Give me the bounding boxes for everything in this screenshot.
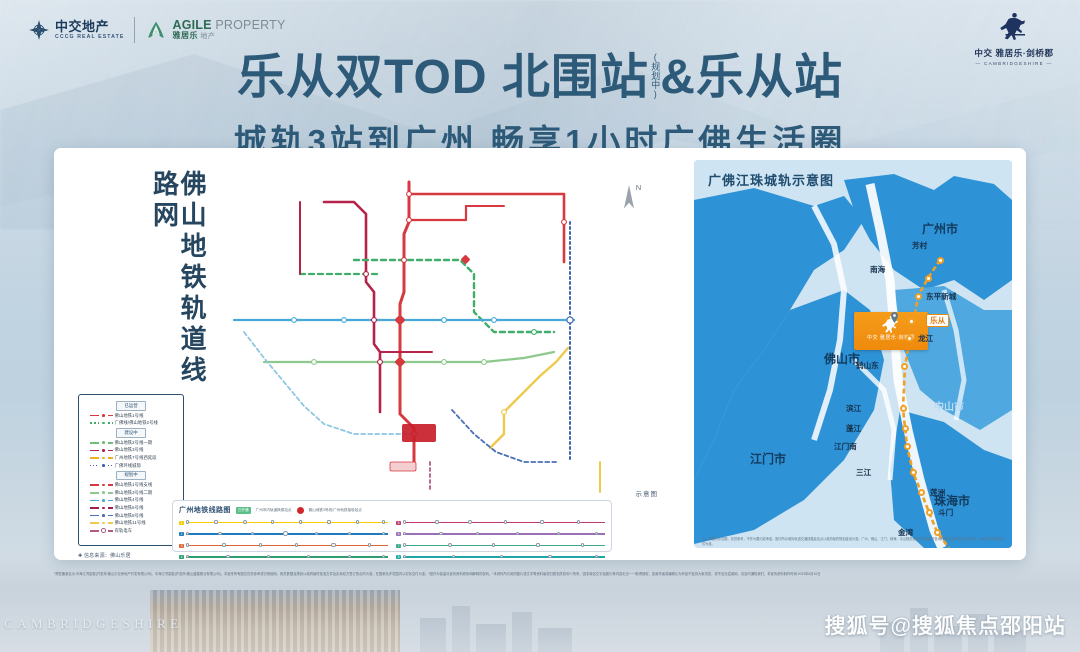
line-number: 4: [179, 555, 184, 559]
legend-line-swatch-tail: [108, 500, 113, 502]
legend-line-swatch-tail: [108, 415, 113, 417]
legend-item: 佛山地铁11号线: [90, 520, 180, 526]
guangzhou-line-row: 2: [179, 530, 388, 539]
source-note-prefix: 信息来源：: [84, 553, 110, 559]
legend-item: 佛山地铁3号线二期: [90, 490, 180, 496]
legend-line-swatch: [90, 484, 99, 486]
legend-item: 广佛环线城际: [90, 463, 180, 469]
station-label-dongpingxincheng: 东平新城: [926, 291, 956, 302]
station-label-sanjiang: 三江: [856, 467, 871, 478]
legend-line-swatch: [90, 515, 99, 517]
project-badge-label: 中交 雅居乐·剑桥郡: [854, 334, 928, 341]
station-label-longjiang: 龙江: [918, 333, 933, 344]
station-dot: [915, 293, 922, 300]
line3-badge-icon: [297, 507, 304, 514]
headline-primary: 乐从双TOD 北围站(规划中)&乐从站: [0, 52, 1080, 109]
guangzhou-panel-header: 广州地铁线路图 已开通 广州市内轨道换乘站点 佛山地铁3号线/广州地铁接驳站点: [179, 505, 605, 515]
guangzhou-line-row: 7: [396, 541, 605, 550]
guangzhou-line-row: 3: [179, 541, 388, 550]
line-track: [403, 522, 605, 523]
station-dot: [937, 257, 944, 264]
schematic-note: 示意图: [636, 488, 659, 498]
legend-item: 广州地铁7号线西延段: [90, 455, 180, 461]
city-label-foshan: 佛山市: [824, 350, 860, 367]
legend-label: 佛山地铁6号线: [115, 505, 144, 511]
legend-dot: [101, 506, 106, 511]
legend-label: 有轨电车: [115, 528, 133, 534]
legend-item: 佛山地铁1号线: [90, 413, 180, 419]
agile-leaf-icon: [145, 19, 167, 41]
legend-label: 佛山地铁2号线一期: [115, 440, 153, 446]
location-pin-icon: [890, 312, 899, 323]
legend-line-swatch-tail: [108, 530, 113, 532]
cccg-logo-en: CCCG REAL ESTATE: [55, 35, 124, 40]
legend-line-swatch-tail: [108, 465, 113, 467]
line-track: [186, 522, 388, 523]
legend-line-swatch: [90, 492, 99, 494]
legend-group-header: 建设中: [116, 428, 146, 438]
agile-logo: AGILE PROPERTY 雅居乐 地产: [145, 19, 285, 41]
headline-superscript: (规划中): [650, 52, 659, 99]
logo-divider: [134, 17, 135, 43]
line-track: [403, 556, 605, 557]
north-arrow-icon: N: [612, 180, 646, 212]
legend-line-swatch: [90, 422, 99, 424]
horse-rider-icon: [992, 10, 1037, 40]
developer-logos: 中交地产 CCCG REAL ESTATE AGILE PROPERTY 雅居乐…: [28, 17, 286, 43]
legend-item: 佛山地铁2号线一期: [90, 440, 180, 446]
station-dot: [900, 405, 907, 412]
legend-label: 佛山地铁1号线支线: [115, 482, 153, 488]
legend-item: 佛山地铁8号线: [90, 513, 180, 519]
station-dot: [906, 335, 913, 342]
guangzhou-tag-connect: 佛山地铁3号线/广州地铁接驳站点: [309, 508, 362, 513]
legend-group-header: 已运营: [116, 401, 146, 411]
station-label-jiangmennan: 江门南: [834, 441, 857, 452]
legend-line-swatch-tail: [108, 515, 113, 517]
legend-label: 广佛线/佛山地铁2号线: [115, 420, 158, 426]
guangzhou-line-column: 5 6 7 8: [396, 518, 605, 560]
legend-line-swatch: [90, 450, 99, 452]
foshan-metro-schematic: N 示意图: [204, 162, 674, 512]
intercity-map-note: 注：本图为示意图，仅供参考，不作为要约或承诺。图中所示城际轨道交通线路及站点以政…: [702, 537, 1006, 546]
poster-canvas: 中交地产 CCCG REAL ESTATE AGILE PROPERTY 雅居乐…: [0, 0, 1080, 652]
station-dot: [904, 443, 911, 450]
legend-item: 佛山地铁1号线支线: [90, 482, 180, 488]
legend-dot: [101, 498, 106, 503]
headline-block: 乐从双TOD 北围站(规划中)&乐从站 城轨3站到广州 畅享1小时广佛生活圈: [0, 52, 1080, 163]
cccg-logo: 中交地产 CCCG REAL ESTATE: [28, 19, 124, 41]
content-board: 佛山地铁轨道线路网 已运营 佛山地铁1号线 广佛线/佛山地铁2号线 建设中 佛山…: [54, 148, 1026, 560]
guangzhou-line-column: 1 2 3 4: [179, 518, 388, 560]
intercity-rail-map: 广佛江珠城轨示意图 中交 雅居乐·剑桥郡 广州市 佛山市 江门市 珠海市 中山市…: [694, 160, 1012, 548]
legend-dot: [101, 521, 106, 526]
legend-dot: [101, 448, 106, 453]
station-label-heshandong: 鹤山东: [856, 360, 879, 371]
station-dot: [910, 469, 917, 476]
source-note-value: 佛山乐居: [110, 553, 131, 559]
legend-item: 佛山地铁3号线: [90, 447, 180, 453]
guangzhou-tag-open: 已开通: [236, 507, 251, 514]
station-dot: [925, 275, 932, 282]
legend-line-swatch: [90, 465, 99, 467]
line-number: 1: [179, 521, 184, 525]
line-number: 7: [396, 544, 401, 548]
city-label-guangzhou: 广州市: [922, 220, 958, 237]
guangzhou-line-row: 8: [396, 553, 605, 561]
line-number: 2: [179, 532, 184, 536]
city-label-jiangmen: 江门市: [750, 450, 786, 467]
legend-dot: [101, 413, 106, 418]
legend-dot: [101, 456, 106, 461]
metro-network-title: 佛山地铁轨道线路网: [150, 170, 205, 408]
line-number: 6: [396, 532, 401, 536]
line-track: [186, 545, 388, 546]
legend-line-swatch-tail: [108, 492, 113, 494]
legend-line-swatch-tail: [108, 484, 113, 486]
legend-line-swatch-tail: [108, 422, 113, 424]
legend-item: 有轨电车: [90, 528, 180, 534]
station-dot: [926, 509, 933, 516]
guangzhou-line-row: 1: [179, 518, 388, 527]
station-label-nanhai: 南海: [870, 264, 885, 275]
metro-legend: 已运营 佛山地铁1号线 广佛线/佛山地铁2号线 建设中 佛山地铁2号线一期 佛山…: [78, 394, 184, 546]
line-number: 5: [396, 521, 401, 525]
metro-lines-svg: [204, 162, 674, 512]
north-label: N: [636, 183, 641, 192]
line-number: 3: [179, 544, 184, 548]
legend-line-swatch: [90, 415, 99, 417]
legend-group-construction: 建设中 佛山地铁2号线一期 佛山地铁3号线 广州地铁7号线西延段 广佛环线城际: [82, 428, 180, 468]
legend-dot: [101, 513, 106, 518]
station-dot: [918, 489, 925, 496]
legend-line-swatch: [90, 442, 99, 444]
legend-line-swatch-tail: [108, 442, 113, 444]
city-label-zhongshan: 中山市: [934, 398, 964, 413]
legend-item: 佛山地铁4号线: [90, 497, 180, 503]
station-label-doumen: 斗门: [938, 507, 953, 518]
legend-label: 佛山地铁3号线: [115, 447, 144, 453]
legend-label: 广佛环线城际: [115, 463, 141, 469]
guangzhou-line-row: 5: [396, 518, 605, 527]
legend-line-swatch: [90, 522, 99, 524]
legend-group-operating: 已运营 佛山地铁1号线 广佛线/佛山地铁2号线: [82, 401, 180, 426]
legend-group-planned: 规划中 佛山地铁1号线支线 佛山地铁3号线二期 佛山地铁4号线 佛山地铁6号线 …: [82, 471, 180, 534]
guangzhou-line-row: 4: [179, 553, 388, 561]
legend-line-swatch-tail: [108, 507, 113, 509]
cccg-compass-icon: [28, 19, 50, 41]
line-track: [403, 533, 605, 534]
legend-label: 佛山地铁1号线: [115, 413, 144, 419]
agile-logo-cn: 雅居乐 地产: [172, 32, 285, 40]
legend-item: 佛山地铁6号线: [90, 505, 180, 511]
legend-line-swatch: [90, 457, 99, 459]
guangzhou-line-columns: 1 2 3 4 5 6 7 8: [179, 518, 605, 560]
station-dot: [934, 529, 941, 536]
legend-line-swatch: [90, 530, 99, 532]
line-track: [403, 545, 605, 546]
legend-dot: [101, 463, 106, 468]
project-photo-strip: [150, 590, 400, 652]
line-number: 8: [396, 555, 401, 559]
watermark-cambridgeshire: CAMBRIDGESHIRE: [4, 616, 183, 632]
legend-label: 佛山地铁4号线: [115, 497, 144, 503]
intercity-map-title: 广佛江珠城轨示意图: [708, 170, 834, 189]
legend-line-swatch-tail: [108, 522, 113, 524]
station-dot: [901, 363, 908, 370]
line-track: [186, 556, 388, 557]
legend-line-swatch: [90, 507, 99, 509]
legend-label: 广州地铁7号线西延段: [115, 455, 157, 461]
legend-label: 佛山地铁3号线二期: [115, 490, 153, 496]
legend-dot: [101, 421, 106, 426]
legend-line-swatch-tail: [108, 450, 113, 452]
station-label-fangcun: 芳村: [912, 240, 927, 251]
station-dot: [902, 425, 909, 432]
station-label-lecong-highlight: 乐从: [926, 314, 949, 327]
legend-dot: [101, 440, 106, 445]
legend-line-swatch: [90, 500, 99, 502]
legend-dot: [101, 490, 106, 495]
station-label-binjiang: 滨江: [846, 403, 861, 414]
legend-item: 广佛线/佛山地铁2号线: [90, 420, 180, 426]
legend-dot: [101, 528, 106, 533]
line-track: [186, 533, 388, 534]
cccg-logo-cn: 中交地产: [55, 20, 124, 33]
guangzhou-line-row: 6: [396, 530, 605, 539]
watermark-sohu: 搜狐号@搜狐焦点邵阳站: [825, 610, 1066, 640]
guangzhou-metro-panel: 广州地铁线路图 已开通 广州市内轨道换乘站点 佛山地铁3号线/广州地铁接驳站点 …: [172, 500, 612, 552]
legend-label: 佛山地铁11号线: [115, 520, 146, 526]
legend-line-swatch-tail: [108, 457, 113, 459]
source-note: ✚ 信息来源：佛山乐居: [78, 552, 131, 559]
legend-dot: [101, 483, 106, 488]
station-label-pengjiang: 蓬江: [846, 423, 861, 434]
guangzhou-tag-interchange: 广州市内轨道换乘站点: [256, 508, 292, 513]
station-label-lianzhou: 莲洲: [930, 487, 945, 498]
station-dot: [908, 318, 915, 325]
guangzhou-panel-title: 广州地铁线路图: [179, 505, 231, 515]
legend-label: 佛山地铁8号线: [115, 513, 144, 519]
legend-group-header: 规划中: [116, 471, 146, 481]
